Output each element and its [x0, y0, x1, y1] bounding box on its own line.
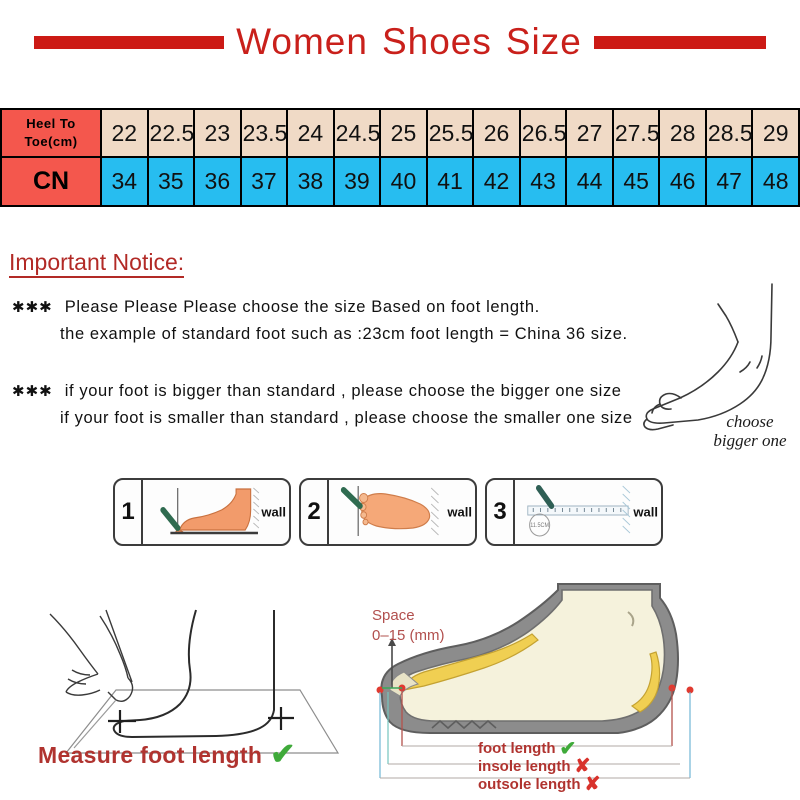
cell-cn: 38 [287, 157, 334, 206]
cell-cn: 39 [334, 157, 381, 206]
cell-cm: 23.5 [241, 109, 288, 157]
cell-cm: 25.5 [427, 109, 474, 157]
space-label-line-1: Space [372, 606, 445, 626]
notice-line: ✱✱✱if your foot is bigger than standard … [12, 378, 633, 405]
notice-text: the example of standard foot such as :23… [60, 325, 628, 343]
legend-label: outsole length [478, 776, 581, 794]
cell-cm: 24.5 [334, 109, 381, 157]
row-header-label: CN [33, 167, 69, 195]
cell-cm: 27.5 [613, 109, 660, 157]
cell-cm: 29 [752, 109, 799, 157]
measurement-steps: 1 wall 2 [113, 478, 663, 546]
cell-cn: 44 [566, 157, 613, 206]
cell-cn: 42 [473, 157, 520, 206]
cell-cn: 45 [613, 157, 660, 206]
ruler-value-label: 11.5CM [530, 523, 549, 529]
notice-line: the example of standard foot such as :23… [12, 321, 628, 348]
page-title-bar: WomenShoesSize [0, 18, 800, 66]
cell-cn: 41 [427, 157, 474, 206]
step-3-illustration: 11.5CM wall [515, 480, 661, 544]
legend-row-outsole-length: outsole length ✘ [478, 776, 600, 794]
notice-text: if your foot is bigger than standard , p… [65, 382, 622, 400]
cell-cn: 47 [706, 157, 753, 206]
cell-cm: 25 [380, 109, 427, 157]
space-gap-label: Space 0–15 (mm) [372, 606, 445, 646]
cell-cm: 26.5 [520, 109, 567, 157]
cell-cm: 28.5 [706, 109, 753, 157]
title-rule-left [34, 36, 224, 49]
cell-cm: 24 [287, 109, 334, 157]
cell-cm: 27 [566, 109, 613, 157]
row-header-heel-to-toe: Heel To Toe(cm) [1, 109, 101, 157]
legend-label: insole length [478, 758, 571, 776]
size-conversion-table: Heel To Toe(cm) 22 22.5 23 23.5 24 24.5 … [0, 108, 800, 207]
step-panel-3: 3 11.5CM [485, 478, 663, 546]
cell-cn: 46 [659, 157, 706, 206]
cell-cm: 28 [659, 109, 706, 157]
step-1-illustration: wall [143, 480, 289, 544]
caption-line-2: bigger one [690, 431, 800, 450]
wall-label: wall [633, 505, 658, 520]
notice-text: Please Please Please choose the size Bas… [65, 298, 540, 316]
table-row-cm: Heel To Toe(cm) 22 22.5 23 23.5 24 24.5 … [1, 109, 799, 157]
legend-label: foot length [478, 740, 555, 758]
cell-cn: 43 [520, 157, 567, 206]
step-2-illustration: wall [329, 480, 475, 544]
notice-text: if your foot is smaller than standard , … [60, 409, 633, 427]
cell-cm: 22.5 [148, 109, 195, 157]
page-title: WomenShoesSize [224, 21, 594, 63]
legend-row-insole-length: insole length ✘ [478, 758, 600, 776]
cell-cn: 36 [194, 157, 241, 206]
step-number: 1 [115, 480, 143, 544]
notice-paragraph-1: ✱✱✱Please Please Please choose the size … [12, 294, 628, 348]
cell-cn: 40 [380, 157, 427, 206]
cell-cn: 48 [752, 157, 799, 206]
step-panel-1: 1 wall [113, 478, 291, 546]
step-number: 2 [301, 480, 329, 544]
wall-label: wall [447, 505, 472, 520]
measure-foot-length-caption: Measure foot length ✔ [38, 740, 296, 770]
bullet-stars: ✱✱✱ [12, 383, 53, 400]
check-icon: ✔ [270, 740, 295, 770]
important-notice-heading: Important Notice: [9, 250, 184, 278]
title-word-1: Women [236, 21, 368, 62]
choose-bigger-caption: choose bigger one [690, 412, 800, 450]
wall-label: wall [261, 505, 286, 520]
step-panel-2: 2 wall [299, 478, 477, 546]
table-row-cn: CN 34 35 36 37 38 39 40 41 42 43 44 45 4… [1, 157, 799, 206]
title-rule-right [594, 36, 766, 49]
cross-icon: ✘ [585, 776, 601, 794]
cell-cn: 37 [241, 157, 288, 206]
bullet-stars: ✱✱✱ [12, 299, 53, 316]
measure-caption-text: Measure foot length [38, 742, 262, 769]
cell-cm: 23 [194, 109, 241, 157]
check-icon: ✔ [559, 740, 576, 758]
title-word-2: Shoes [382, 21, 492, 62]
length-legend: foot length ✔ insole length ✘ outsole le… [478, 740, 600, 794]
cell-cn: 35 [148, 157, 195, 206]
step-number: 3 [487, 480, 515, 544]
row-header-cn: CN [1, 157, 101, 206]
space-label-line-2: 0–15 (mm) [372, 626, 445, 646]
notice-line: if your foot is smaller than standard , … [12, 405, 633, 432]
cell-cm: 22 [101, 109, 148, 157]
cell-cn: 34 [101, 157, 148, 206]
cell-cm: 26 [473, 109, 520, 157]
notice-paragraph-2: ✱✱✱if your foot is bigger than standard … [12, 378, 633, 432]
row-header-label: Heel To Toe(cm) [24, 116, 77, 149]
title-word-3: Size [506, 21, 582, 62]
caption-line-1: choose [690, 412, 800, 431]
notice-line: ✱✱✱Please Please Please choose the size … [12, 294, 628, 321]
